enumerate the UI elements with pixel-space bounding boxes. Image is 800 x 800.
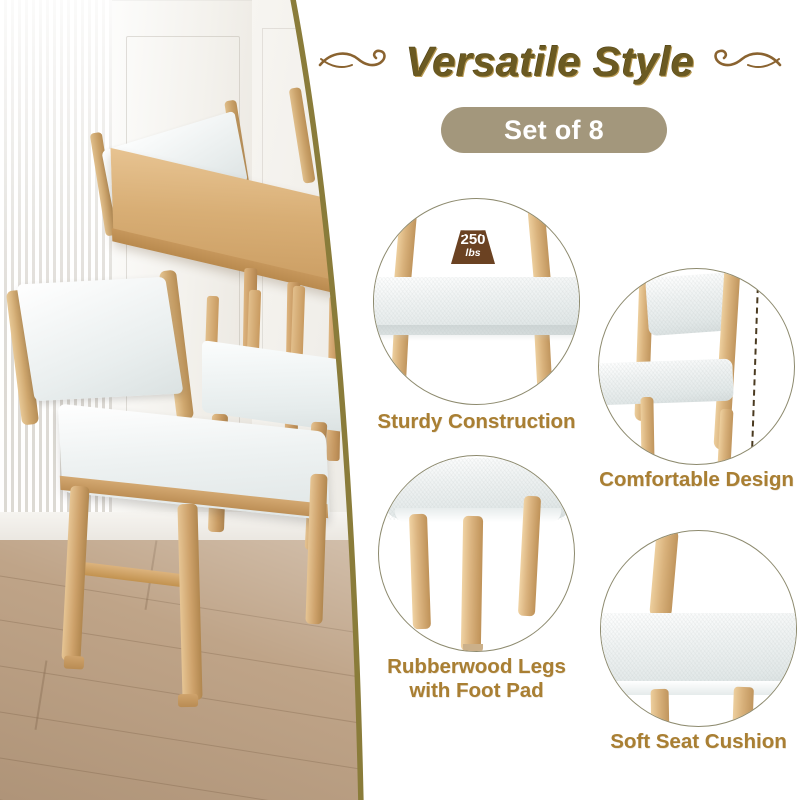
weight-icon: 250 lbs (451, 224, 495, 264)
foot-pad (463, 644, 483, 652)
header: Versatile Style (300, 22, 800, 102)
set-of-badge-label: Set of 8 (504, 115, 604, 146)
feature-label-rubberwood-legs: Rubberwood Legs with Foot Pad (378, 655, 575, 702)
feature-soft-seat-cushion: Soft Seat Cushion (600, 530, 797, 727)
room-scene (0, 0, 372, 800)
feature-image-sturdy-construction: 250 lbs (373, 198, 580, 405)
set-of-badge: Set of 8 (441, 107, 667, 153)
table-leg (359, 306, 372, 456)
feature-sturdy-construction: 250 lbs Sturdy Construction (373, 198, 580, 405)
weight-unit: lbs (465, 248, 480, 259)
flourish-ornament-right-icon (708, 45, 782, 79)
feature-image-rubberwood-legs (378, 455, 575, 652)
feature-label-sturdy-construction: Sturdy Construction (373, 410, 580, 434)
weight-capacity-badge: 250 lbs (446, 219, 500, 269)
page-title: Versatile Style (406, 38, 695, 86)
chair-foreground (8, 268, 338, 698)
feature-comfortable-design: Comfortable Design (598, 268, 795, 465)
feature-label-comfortable-design: Comfortable Design (598, 468, 795, 492)
feature-rubberwood-legs: Rubberwood Legs with Foot Pad (378, 455, 575, 652)
feature-label-soft-seat-cushion: Soft Seat Cushion (600, 730, 797, 754)
feature-image-soft-seat-cushion (600, 530, 797, 727)
flourish-ornament-left-icon (318, 45, 392, 79)
feature-image-comfortable-design (598, 268, 795, 465)
infographic-canvas: Versatile Style Set of 8 250 lbs (0, 0, 800, 800)
dashed-reference-line-icon (751, 287, 759, 447)
lifestyle-photo (0, 0, 372, 800)
